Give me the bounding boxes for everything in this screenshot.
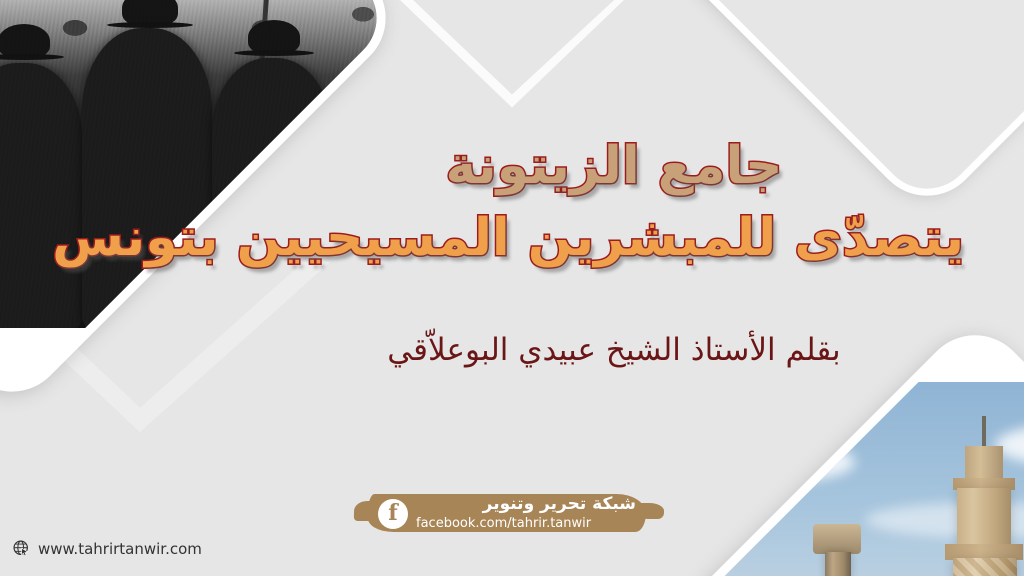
cloud xyxy=(705,442,855,482)
brand-facebook-url[interactable]: facebook.com/tahrir.tanwir xyxy=(416,516,636,531)
title-line-2: يتصدّى للمبشرين المسيحيين بتونس xyxy=(264,210,964,266)
foreground-column xyxy=(825,552,851,576)
zaytuna-mosque-photo-image xyxy=(671,382,1024,576)
minaret-lantern xyxy=(965,446,1003,480)
byline: بقلم الأستاذ الشيخ عبيدي البوعلاّقي xyxy=(264,332,964,368)
minaret-spire xyxy=(982,416,986,450)
website-link[interactable]: www.tahrirtanwir.com xyxy=(12,539,202,558)
article-banner: 1950 xyxy=(0,0,1024,576)
title-line-1: جامع الزيتونة xyxy=(264,138,964,194)
column-capital xyxy=(813,524,861,554)
brand-texts: شبكة تحرير وتنوير facebook.com/tahrir.ta… xyxy=(416,494,636,531)
facebook-icon[interactable]: f xyxy=(378,499,408,529)
minaret-shaft xyxy=(957,488,1011,546)
brand-name: شبكة تحرير وتنوير xyxy=(416,494,636,515)
brand-badge[interactable]: f شبكة تحرير وتنوير facebook.com/tahrir.… xyxy=(368,488,648,536)
page-title: جامع الزيتونة يتصدّى للمبشرين المسيحيين … xyxy=(264,138,964,266)
minaret-tower xyxy=(953,558,1017,576)
website-url: www.tahrirtanwir.com xyxy=(38,540,202,558)
globe-cursor-icon xyxy=(12,539,31,558)
